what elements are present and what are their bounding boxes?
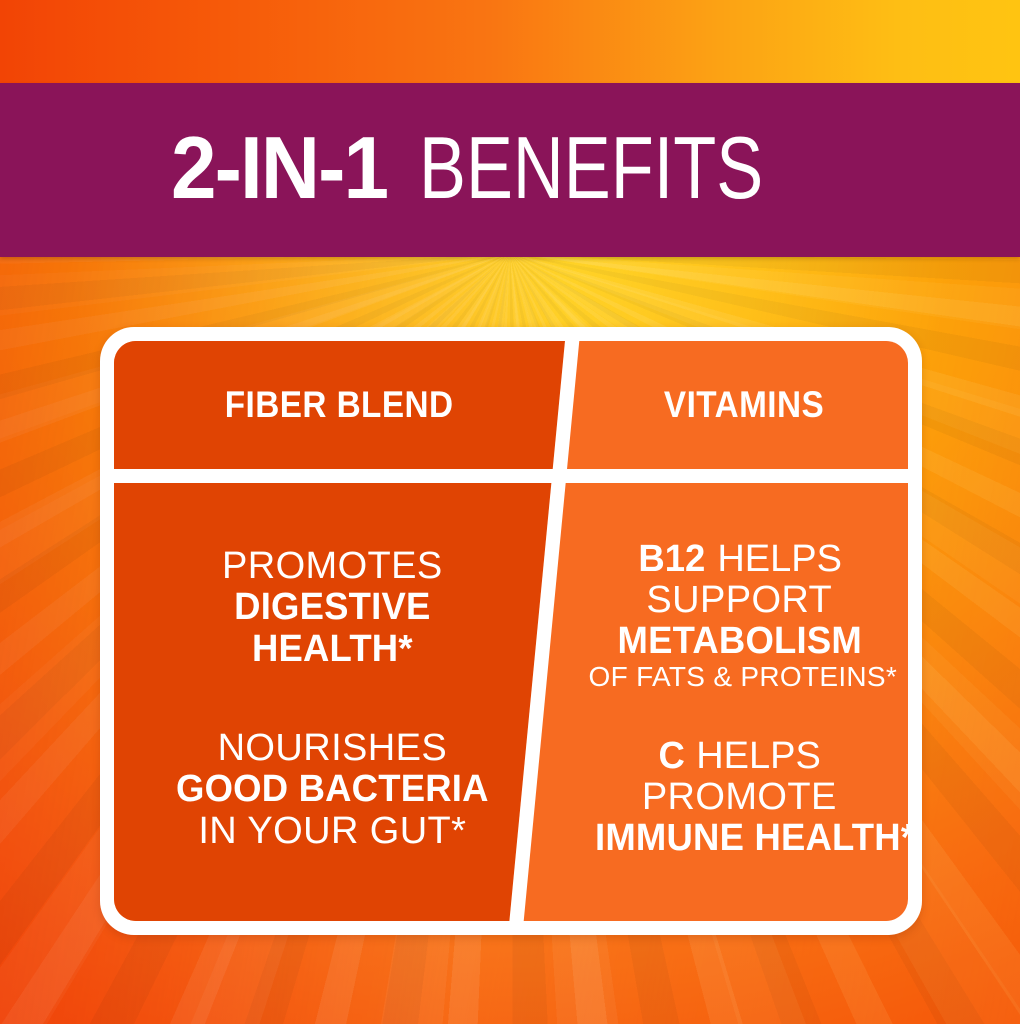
benefit-line: METABOLISM	[595, 621, 884, 662]
header-banner: 2-IN-1 BENEFITS	[0, 83, 1020, 257]
benefit-block: B12 HELPS SUPPORT METABOLISM OF FATS & P…	[589, 539, 890, 692]
benefit-line: DIGESTIVE	[140, 587, 525, 628]
column-header-fiber-blend: FIBER BLEND	[114, 341, 565, 469]
column-body-fiber-blend: PROMOTES DIGESTIVE HEALTH* NOURISHES GOO…	[114, 483, 551, 921]
title-light: BENEFITS	[419, 124, 763, 212]
top-gradient-strip	[0, 0, 1020, 83]
benefits-graphic: 2-IN-1 BENEFITS FIBER BLEND VITAMINS	[0, 0, 1020, 1024]
benefit-line: OF FATS & PROTEINS*	[589, 662, 890, 692]
benefit-line: HEALTH*	[140, 629, 525, 670]
benefit-block: C HELPS PROMOTE IMMUNE HEALTH*	[589, 736, 890, 859]
benefit-line: GOOD BACTERIA	[140, 769, 525, 810]
benefit-line: IN YOUR GUT*	[132, 811, 533, 852]
title-strong: 2-IN-1	[171, 124, 387, 212]
column-header-vitamins: VITAMINS	[579, 341, 908, 469]
column-header-label: FIBER BLEND	[225, 384, 454, 426]
benefit-verb: HELPS	[717, 539, 842, 580]
benefit-line: B12 HELPS	[589, 539, 890, 580]
card-header-row: FIBER BLEND VITAMINS	[114, 341, 908, 469]
benefit-verb: HELPS	[696, 736, 821, 777]
column-header-label: VITAMINS	[664, 384, 824, 426]
vitamin-name: B12	[638, 539, 705, 580]
benefits-card: FIBER BLEND VITAMINS PROMOTES DIGESTIVE …	[100, 327, 922, 935]
benefits-card-inner: FIBER BLEND VITAMINS PROMOTES DIGESTIVE …	[114, 341, 908, 921]
benefit-line: PROMOTES	[132, 546, 533, 587]
benefit-block: NOURISHES GOOD BACTERIA IN YOUR GUT*	[132, 728, 533, 851]
benefit-line: C HELPS	[589, 736, 890, 777]
vitamin-name: C	[658, 736, 684, 777]
card-body-row: PROMOTES DIGESTIVE HEALTH* NOURISHES GOO…	[114, 483, 908, 921]
benefit-line: SUPPORT	[589, 580, 890, 621]
benefit-block: PROMOTES DIGESTIVE HEALTH*	[132, 546, 533, 669]
page-title: 2-IN-1 BENEFITS	[171, 124, 850, 212]
benefit-line: IMMUNE HEALTH*	[595, 818, 884, 859]
column-body-vitamins: B12 HELPS SUPPORT METABOLISM OF FATS & P…	[571, 483, 908, 921]
header-row-divider	[114, 469, 908, 483]
benefit-line: PROMOTE	[589, 777, 890, 818]
benefit-line: NOURISHES	[132, 728, 533, 769]
